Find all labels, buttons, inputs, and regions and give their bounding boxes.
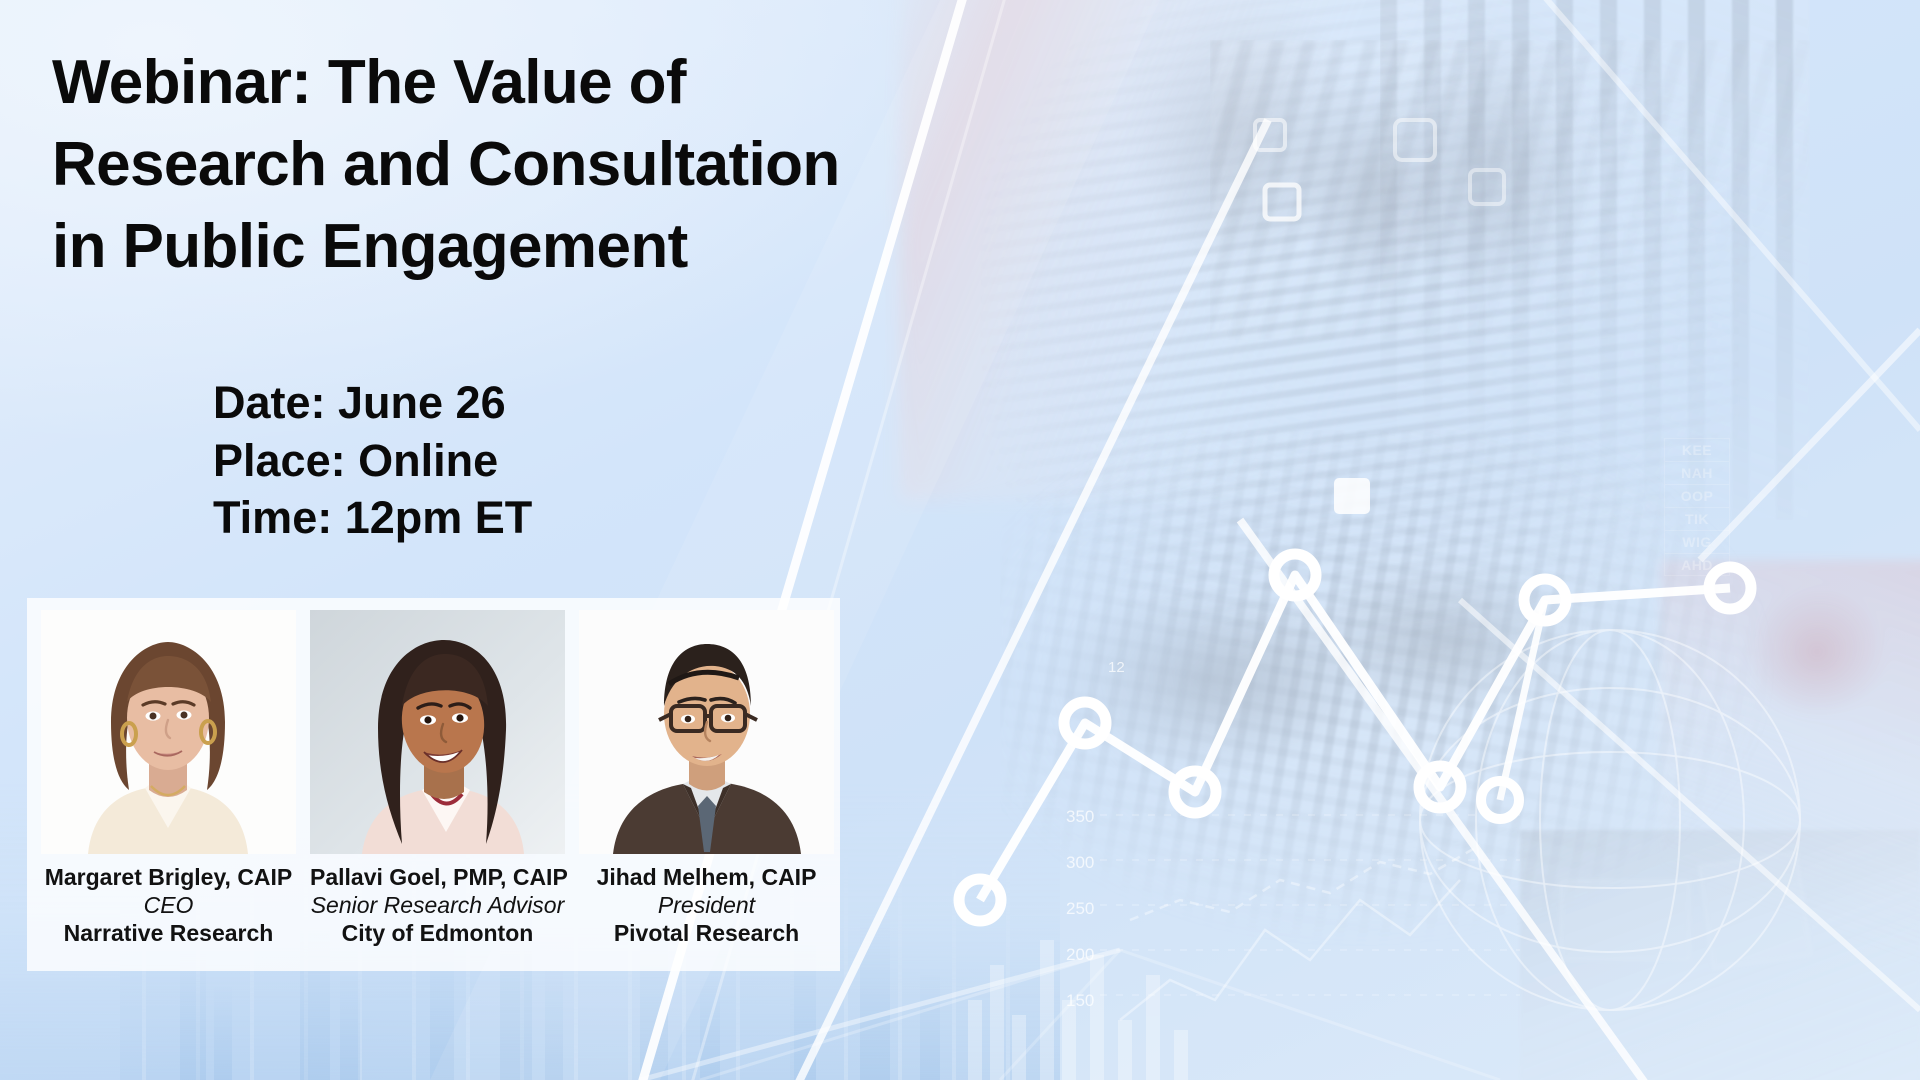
title-line-3: in Public Engagement [52, 212, 688, 281]
event-details: Date: June 26 Place: Online Time: 12pm E… [213, 374, 532, 547]
headshot-jihad-melhem [579, 610, 834, 854]
page-title: Webinar: The Value of Research and Consu… [52, 42, 852, 287]
photo-desk-documents [1520, 830, 1920, 1080]
speaker-role: Senior Research Advisor [310, 891, 565, 919]
stacked-label: NAH [1664, 461, 1730, 484]
speakers-panel: Margaret Brigley, CAIP CEO Narrative Res… [27, 598, 840, 971]
speaker-org: City of Edmonton [310, 919, 565, 947]
stacked-label: OOP [1664, 484, 1730, 507]
title-line-2: Research and Consultation [52, 130, 840, 199]
speaker-card: Pallavi Goel, PMP, CAIP Senior Research … [310, 610, 565, 971]
speaker-role: President [579, 891, 834, 919]
desk-card-left [1560, 880, 1690, 960]
stacked-label: KEE [1664, 438, 1730, 461]
headshot-pallavi-goel [310, 610, 565, 854]
speaker-role: CEO [41, 891, 296, 919]
event-place: Place: Online [213, 432, 532, 490]
event-date: Date: June 26 [213, 374, 532, 432]
webinar-poster: KEE NAH OOP TIK WIG AHD [0, 0, 1920, 1080]
title-line-1: Webinar: The Value of [52, 48, 686, 117]
desk-card-right [1698, 852, 1812, 970]
speaker-card: Margaret Brigley, CAIP CEO Narrative Res… [41, 610, 296, 971]
event-time: Time: 12pm ET [213, 489, 532, 547]
speaker-name: Jihad Melhem, CAIP [579, 864, 834, 891]
speaker-card: Jihad Melhem, CAIP President Pivotal Res… [579, 610, 834, 971]
speaker-org: Narrative Research [41, 919, 296, 947]
speaker-name: Margaret Brigley, CAIP [41, 864, 296, 891]
speaker-org: Pivotal Research [579, 919, 834, 947]
photo-keyboard-top [1210, 40, 1810, 340]
speaker-name: Pallavi Goel, PMP, CAIP [310, 864, 565, 891]
headshot-margaret-brigley [41, 610, 296, 854]
stacked-label: TIK [1664, 507, 1730, 530]
background-stacked-labels: KEE NAH OOP TIK WIG AHD [1664, 438, 1730, 576]
stacked-label: WIG [1664, 530, 1730, 553]
content-column: Webinar: The Value of Research and Consu… [0, 0, 900, 1080]
stacked-label: AHD [1664, 553, 1730, 576]
